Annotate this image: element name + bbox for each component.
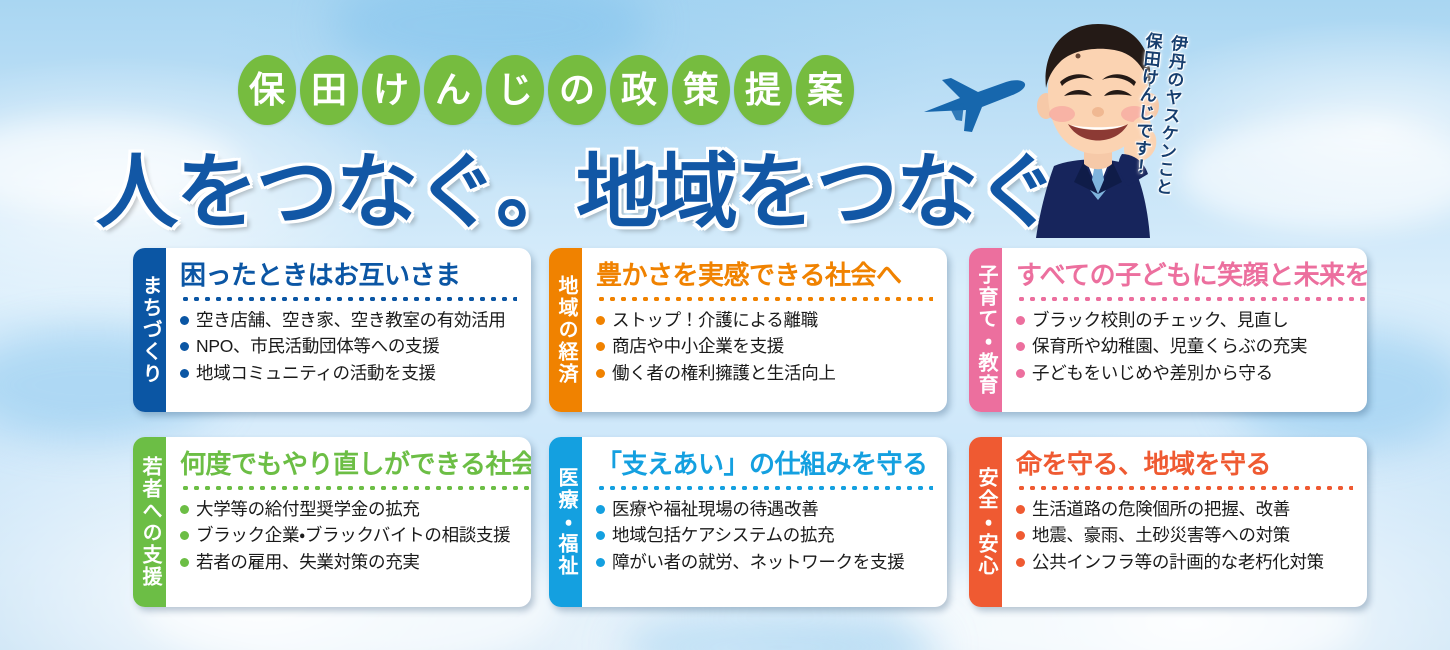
bullet-icon	[596, 369, 605, 378]
list-item: 空き店舗、空き家、空き教室の有効活用	[180, 307, 517, 334]
card-divider	[596, 486, 933, 490]
list-item: 働く者の権利擁護と生活向上	[596, 360, 933, 387]
list-item-label: 子どもをいじめや差別から守る	[1032, 360, 1273, 387]
card-title: すべての子どもに笑顔と未来を	[1016, 261, 1367, 290]
list-item-label: ブラック校則のチェック、見直し	[1032, 307, 1288, 334]
card-tab-label: 子育て・教育	[969, 248, 1002, 412]
list-item: 地域包括ケアシステムの拡充	[596, 522, 933, 549]
list-item: 保育所や幼稚園、児童くらぶの充実	[1016, 333, 1367, 360]
list-item: ブラック校則のチェック、見直し	[1016, 307, 1367, 334]
card-tab-label: まちづくり	[133, 248, 166, 412]
bullet-icon	[1016, 342, 1025, 351]
list-item-label: 保育所や幼稚園、児童くらぶの充実	[1032, 333, 1307, 360]
policy-card[interactable]: まちづくり 困ったときはお互いさま 空き店舗、空き家、空き教室の有効活用 NPO…	[133, 248, 531, 412]
policy-card[interactable]: 子育て・教育 すべての子どもに笑顔と未来を ブラック校則のチェック、見直し 保育…	[969, 248, 1367, 412]
list-item: 大学等の給付型奨学金の拡充	[180, 496, 531, 523]
list-item-label: 障がい者の就労、ネットワークを支援	[612, 549, 904, 576]
list-item: 生活道路の危険個所の把握、改善	[1016, 496, 1353, 523]
policy-card-grid: まちづくり 困ったときはお互いさま 空き店舗、空き家、空き教室の有効活用 NPO…	[0, 0, 1450, 650]
card-title: 困ったときはお互いさま	[180, 261, 517, 290]
bullet-icon	[1016, 531, 1025, 540]
policy-card[interactable]: 若者への支援 何度でもやり直しができる社会を 大学等の給付型奨学金の拡充 ブラッ…	[133, 437, 531, 607]
card-body: 何度でもやり直しができる社会を 大学等の給付型奨学金の拡充 ブラック企業・ブラッ…	[166, 437, 531, 607]
bullet-icon	[180, 342, 189, 351]
list-item: 公共インフラ等の計画的な老朽化対策	[1016, 549, 1353, 576]
card-title: 何度でもやり直しができる社会を	[180, 450, 531, 479]
bullet-icon	[596, 505, 605, 514]
bullet-icon	[596, 342, 605, 351]
list-item-label: ブラック企業・ブラックバイトの相談支援	[196, 522, 510, 549]
card-tab-label: 安全・安心	[969, 437, 1002, 607]
bullet-icon	[1016, 316, 1025, 325]
card-divider	[1016, 486, 1353, 490]
card-bullet-list: 空き店舗、空き家、空き教室の有効活用 NPO、市民活動団体等への支援 地域コミュ…	[180, 307, 517, 387]
card-tab-label: 医療・福祉	[549, 437, 582, 607]
bullet-icon	[180, 369, 189, 378]
card-body: 命を守る、地域を守る 生活道路の危険個所の把握、改善 地震、豪雨、土砂災害等への…	[1002, 437, 1367, 607]
list-item: NPO、市民活動団体等への支援	[180, 333, 517, 360]
list-item-label: 地域コミュニティの活動を支援	[196, 360, 436, 387]
card-bullet-list: 医療や福祉現場の待遇改善 地域包括ケアシステムの拡充 障がい者の就労、ネットワー…	[596, 496, 933, 576]
card-title: 豊かさを実感できる社会へ	[596, 261, 933, 290]
list-item: 地震、豪雨、土砂災害等への対策	[1016, 522, 1353, 549]
bullet-icon	[1016, 369, 1025, 378]
card-divider	[1016, 297, 1367, 301]
card-divider	[180, 486, 531, 490]
list-item-label: 生活道路の危険個所の把握、改善	[1032, 496, 1290, 523]
bullet-icon	[1016, 558, 1025, 567]
list-item-label: 地震、豪雨、土砂災害等への対策	[1032, 522, 1290, 549]
bullet-icon	[596, 316, 605, 325]
list-item-label: 公共インフラ等の計画的な老朽化対策	[1032, 549, 1324, 576]
card-body: 豊かさを実感できる社会へ ストップ！介護による離職 商店や中小企業を支援 働く者…	[582, 248, 947, 412]
list-item: 障がい者の就労、ネットワークを支援	[596, 549, 933, 576]
list-item: ブラック企業・ブラックバイトの相談支援	[180, 522, 531, 549]
policy-card[interactable]: 医療・福祉 「支えあい」の仕組みを守る 医療や福祉現場の待遇改善 地域包括ケアシ…	[549, 437, 947, 607]
list-item-label: 働く者の権利擁護と生活向上	[612, 360, 836, 387]
card-divider	[180, 297, 517, 301]
card-title: 命を守る、地域を守る	[1016, 450, 1353, 479]
list-item: 地域コミュニティの活動を支援	[180, 360, 517, 387]
card-bullet-list: ブラック校則のチェック、見直し 保育所や幼稚園、児童くらぶの充実 子どもをいじめ…	[1016, 307, 1367, 387]
card-bullet-list: 大学等の給付型奨学金の拡充 ブラック企業・ブラックバイトの相談支援 若者の雇用、…	[180, 496, 531, 576]
list-item: 若者の雇用、失業対策の充実	[180, 549, 531, 576]
list-item-label: NPO、市民活動団体等への支援	[196, 333, 439, 360]
list-item: 医療や福祉現場の待遇改善	[596, 496, 933, 523]
bullet-icon	[1016, 505, 1025, 514]
bullet-icon	[180, 316, 189, 325]
list-item-label: 空き店舗、空き家、空き教室の有効活用	[196, 307, 506, 334]
list-item-label: 商店や中小企業を支援	[612, 333, 784, 360]
list-item-label: 若者の雇用、失業対策の充実	[196, 549, 420, 576]
list-item-label: 大学等の給付型奨学金の拡充	[196, 496, 420, 523]
list-item: ストップ！介護による離職	[596, 307, 933, 334]
bullet-icon	[180, 531, 189, 540]
card-tab-label: 若者への支援	[133, 437, 166, 607]
list-item-label: ストップ！介護による離職	[612, 307, 818, 334]
list-item: 商店や中小企業を支援	[596, 333, 933, 360]
card-bullet-list: 生活道路の危険個所の把握、改善 地震、豪雨、土砂災害等への対策 公共インフラ等の…	[1016, 496, 1353, 576]
card-title: 「支えあい」の仕組みを守る	[596, 450, 933, 479]
bullet-icon	[596, 531, 605, 540]
bullet-icon	[596, 558, 605, 567]
card-body: 困ったときはお互いさま 空き店舗、空き家、空き教室の有効活用 NPO、市民活動団…	[166, 248, 531, 412]
bullet-icon	[180, 505, 189, 514]
card-tab-label: 地域の経済	[549, 248, 582, 412]
card-body: すべての子どもに笑顔と未来を ブラック校則のチェック、見直し 保育所や幼稚園、児…	[1002, 248, 1367, 412]
list-item: 子どもをいじめや差別から守る	[1016, 360, 1367, 387]
card-bullet-list: ストップ！介護による離職 商店や中小企業を支援 働く者の権利擁護と生活向上	[596, 307, 933, 387]
bullet-icon	[180, 558, 189, 567]
list-item-label: 地域包括ケアシステムの拡充	[612, 522, 834, 549]
card-divider	[596, 297, 933, 301]
list-item-label: 医療や福祉現場の待遇改善	[612, 496, 818, 523]
card-body: 「支えあい」の仕組みを守る 医療や福祉現場の待遇改善 地域包括ケアシステムの拡充…	[582, 437, 947, 607]
poster-canvas: 保 田 け ん じ の 政 策 提 案 人をつなぐ。地域をつなぐ。	[0, 0, 1450, 650]
policy-card[interactable]: 安全・安心 命を守る、地域を守る 生活道路の危険個所の把握、改善 地震、豪雨、土…	[969, 437, 1367, 607]
policy-card[interactable]: 地域の経済 豊かさを実感できる社会へ ストップ！介護による離職 商店や中小企業を…	[549, 248, 947, 412]
